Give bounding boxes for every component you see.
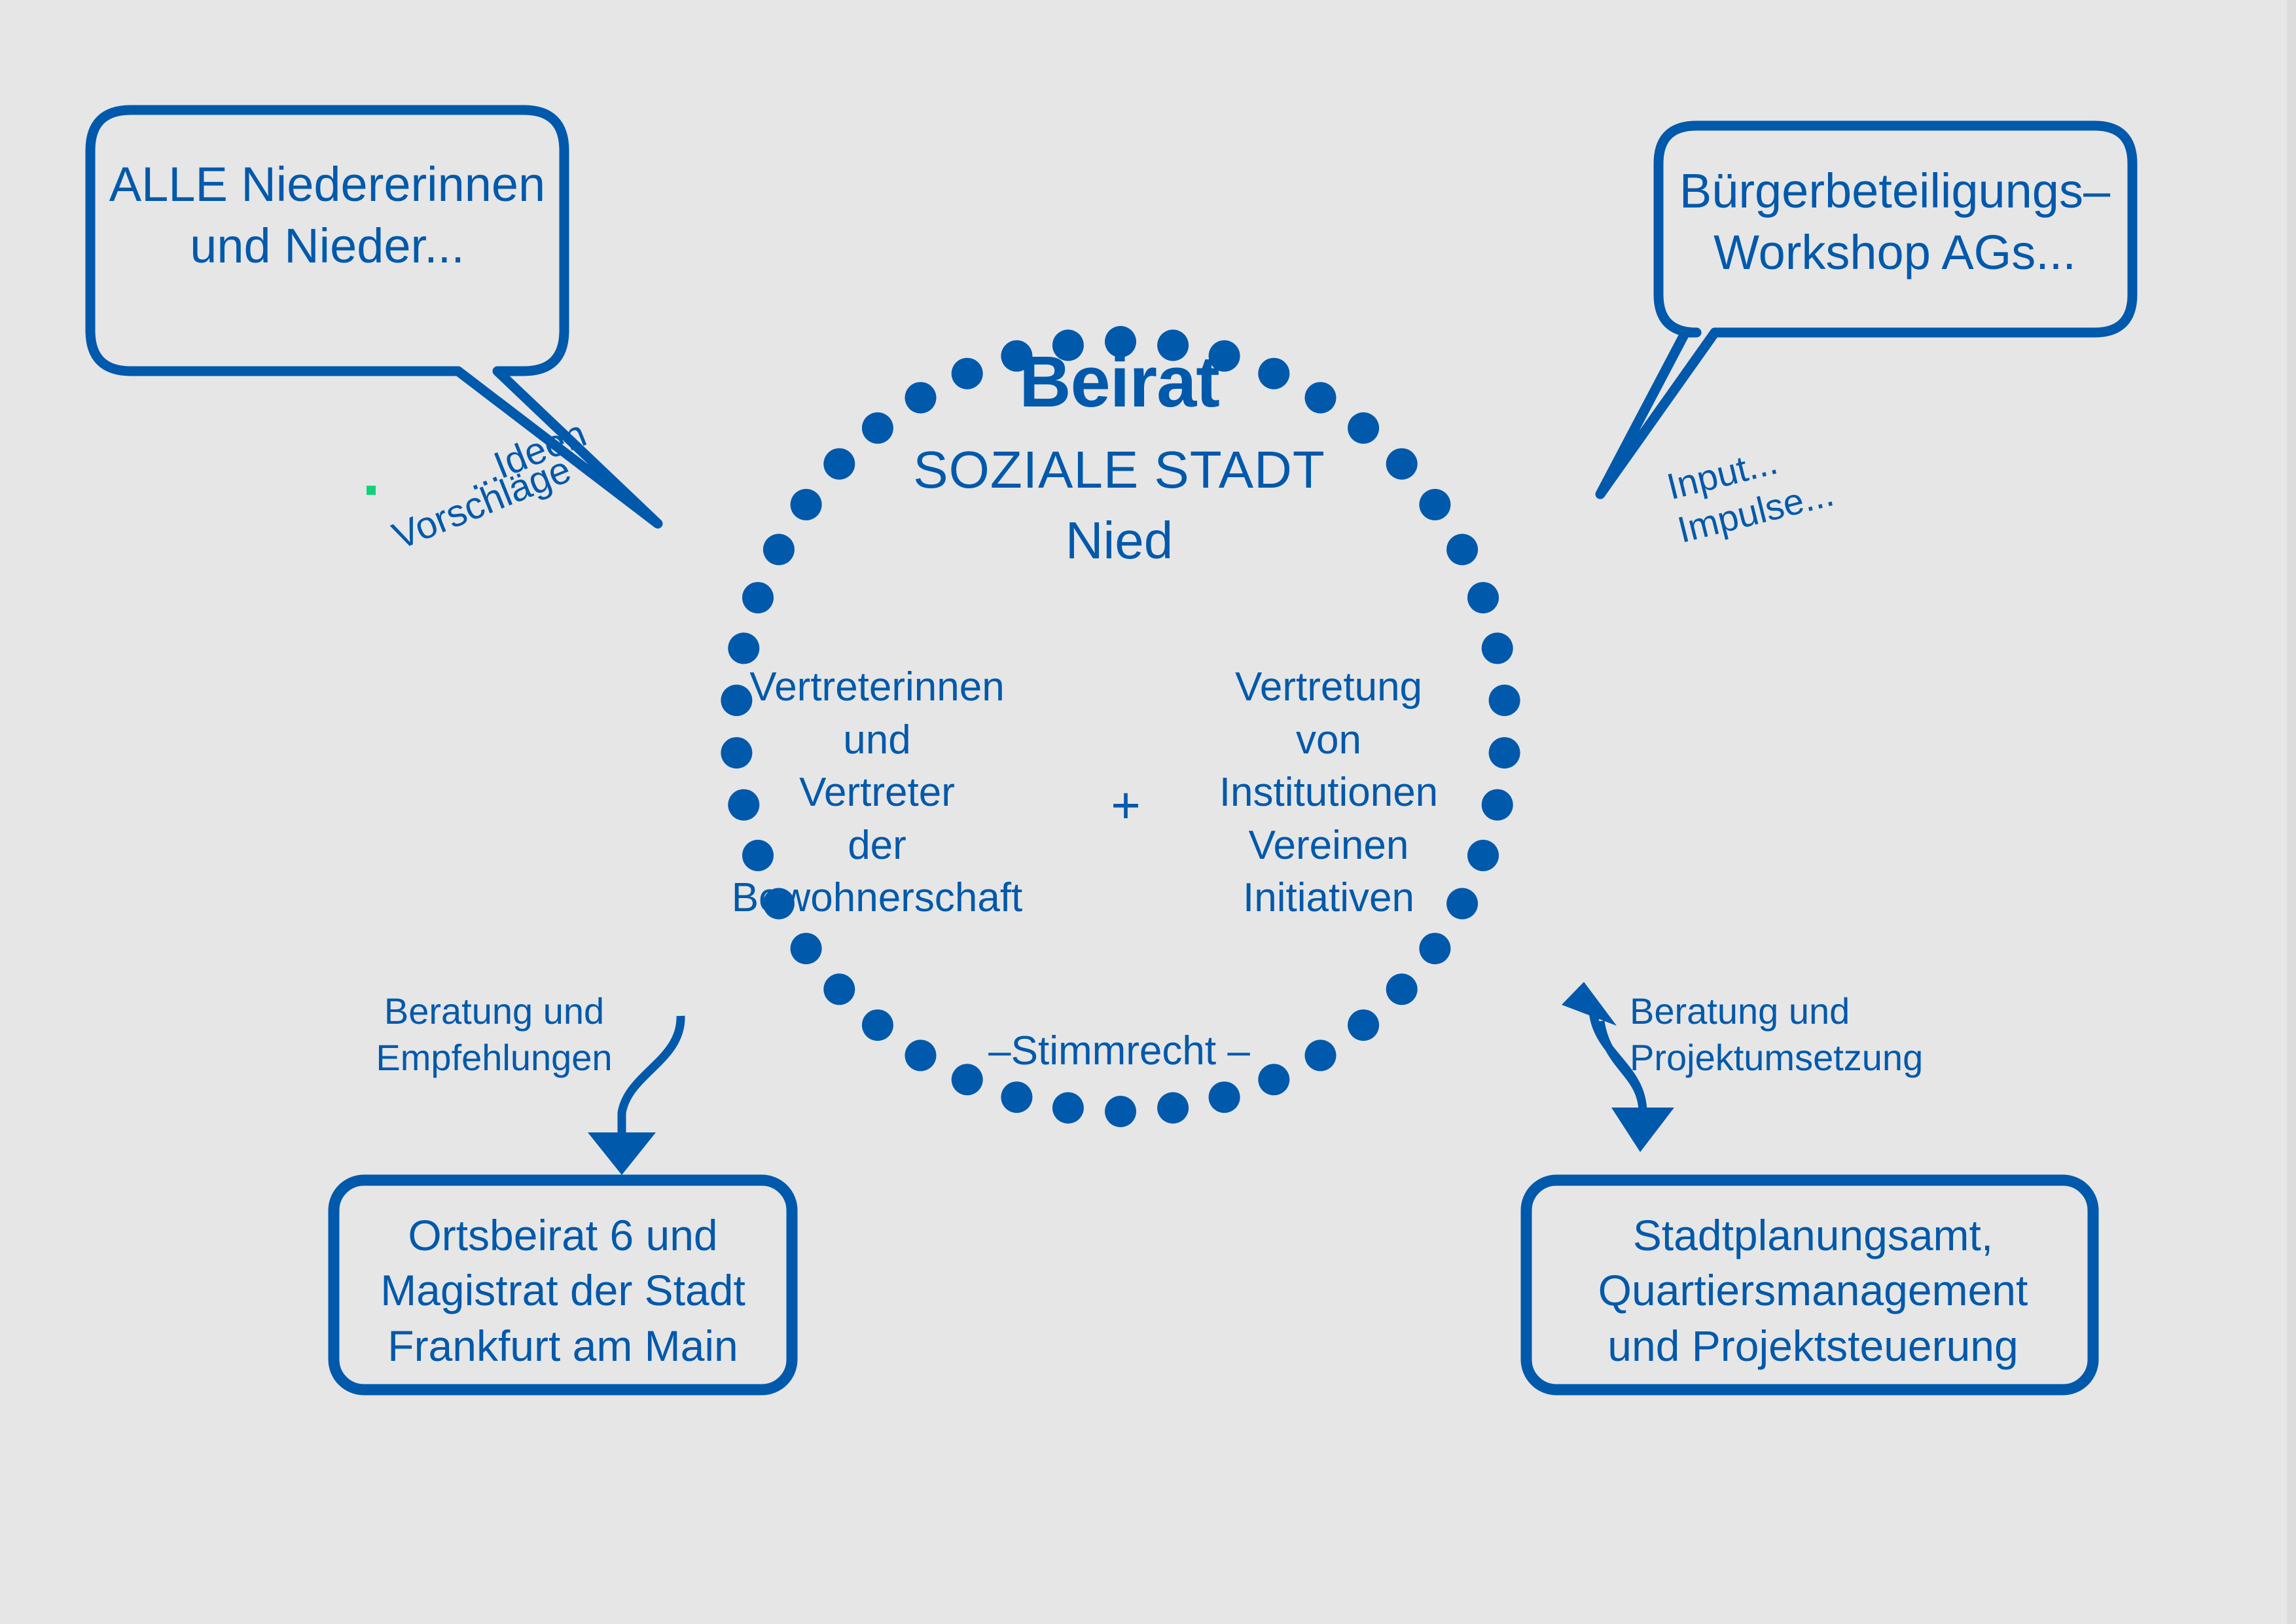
center-column-left: Vertreterinnen und Vertreter der Bewohne… [707,661,1047,925]
ring-dot [1467,840,1499,871]
ring-dot [1105,1096,1136,1127]
plus-separator: + [1073,776,1178,835]
speech-bubble-right-label: Bürgerbeteiligungs– Workshop AGs... [1659,160,2130,283]
green-marker-dot [367,486,376,495]
ring-dot [905,1039,937,1071]
box-stadtplanungsamt-label: Stadtplanungsamt, Quartiersmanagement un… [1538,1208,2088,1373]
ring-dot [1209,1081,1240,1113]
ring-dot [1419,933,1450,964]
ring-dot [1348,1009,1379,1041]
diagram-canvas: ALLE Niedererinnen und Nieder... Bürgerb… [0,0,2296,1624]
center-subtitle-line1: SOZIALE STADT [779,440,1460,501]
ring-dot [1001,1081,1032,1113]
annotation-beratung-empfehlungen: Beratung und Empfehlungen [353,988,635,1081]
center-footer-stimmrecht: –Stimmrecht – [936,1028,1302,1075]
ring-dot [1386,973,1418,1005]
ring-dot [1157,1092,1189,1124]
ring-dot [1489,737,1520,768]
box-ortsbeirat-label: Ortsbeirat 6 und Magistrat der Stadt Fra… [340,1208,785,1373]
ring-dot [728,632,759,664]
ring-dot [862,1009,893,1041]
ring-dot [1467,582,1499,613]
center-title: Beirat [779,340,1460,424]
ring-dot [1482,789,1513,821]
speech-bubble-left-label: ALLE Niedererinnen und Nieder... [92,154,563,277]
center-column-right: Vertretung von Institutionen Vereinen In… [1198,661,1460,925]
ring-dot [1482,632,1513,664]
ring-dot [1305,1039,1336,1071]
ring-dot [1489,685,1520,716]
ring-dot [1052,1092,1084,1124]
ring-dot [742,582,774,613]
ring-dot [791,933,822,964]
ring-dot [823,973,855,1005]
center-subtitle-line2: Nied [779,511,1460,571]
annotation-beratung-projektumsetzung: Beratung und Projektumsetzung [1630,988,1970,1081]
